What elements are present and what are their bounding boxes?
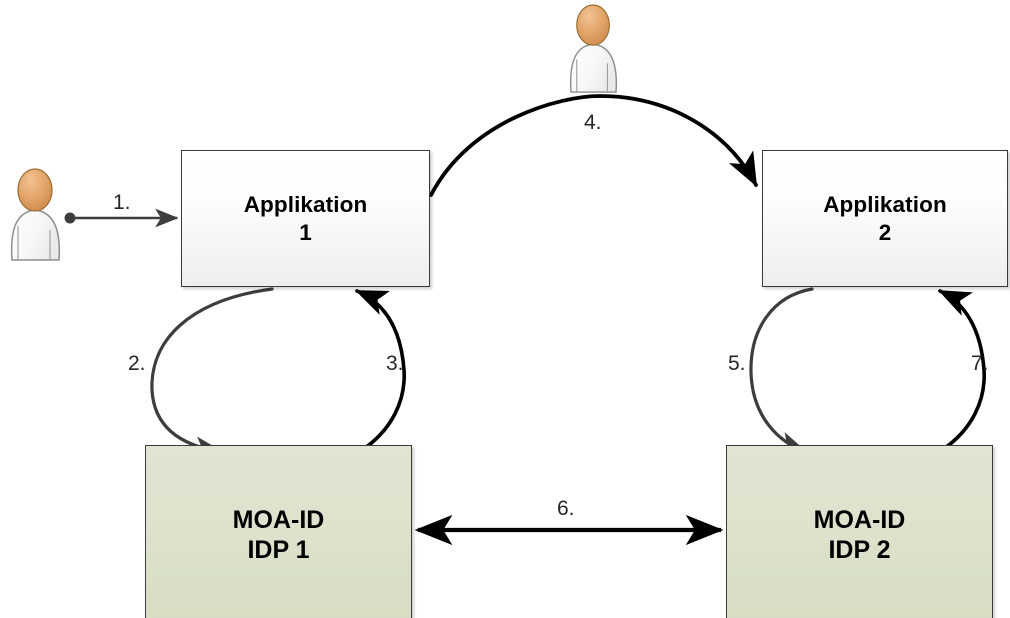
diagram-canvas: Applikation 1 Applikation 2 MOA-ID IDP 1… <box>0 0 1010 618</box>
application-2-node[interactable]: Applikation 2 <box>762 150 1008 287</box>
step-3-label: 3. <box>386 352 404 376</box>
person-icon <box>560 4 628 94</box>
connector-step-2 <box>152 289 272 452</box>
moa-id-idp-1-label-line2: IDP 1 <box>247 535 309 566</box>
person-icon <box>4 168 68 262</box>
application-1-label-line2: 1 <box>299 219 312 246</box>
user-actor-top <box>560 4 628 99</box>
step-2-label: 2. <box>128 352 146 376</box>
moa-id-idp-2-node[interactable]: MOA-ID IDP 2 <box>726 445 993 618</box>
step-4-label: 4. <box>584 111 602 135</box>
moa-id-idp-1-label-line1: MOA-ID <box>233 505 325 536</box>
step-5-label: 5. <box>728 352 746 376</box>
moa-id-idp-1-node[interactable]: MOA-ID IDP 1 <box>145 445 412 618</box>
step-1-label: 1. <box>113 191 131 215</box>
moa-id-idp-2-label-line2: IDP 2 <box>828 535 890 566</box>
application-1-label-line1: Applikation <box>244 191 368 218</box>
user-actor-left <box>4 168 68 267</box>
step-7-label: 7. <box>971 352 989 376</box>
application-1-node[interactable]: Applikation 1 <box>181 150 430 287</box>
connector-step-5 <box>751 289 812 452</box>
moa-id-idp-2-label-line1: MOA-ID <box>814 505 906 536</box>
step-6-label: 6. <box>557 497 575 521</box>
application-2-label-line1: Applikation <box>823 191 947 218</box>
application-2-label-line2: 2 <box>879 219 892 246</box>
